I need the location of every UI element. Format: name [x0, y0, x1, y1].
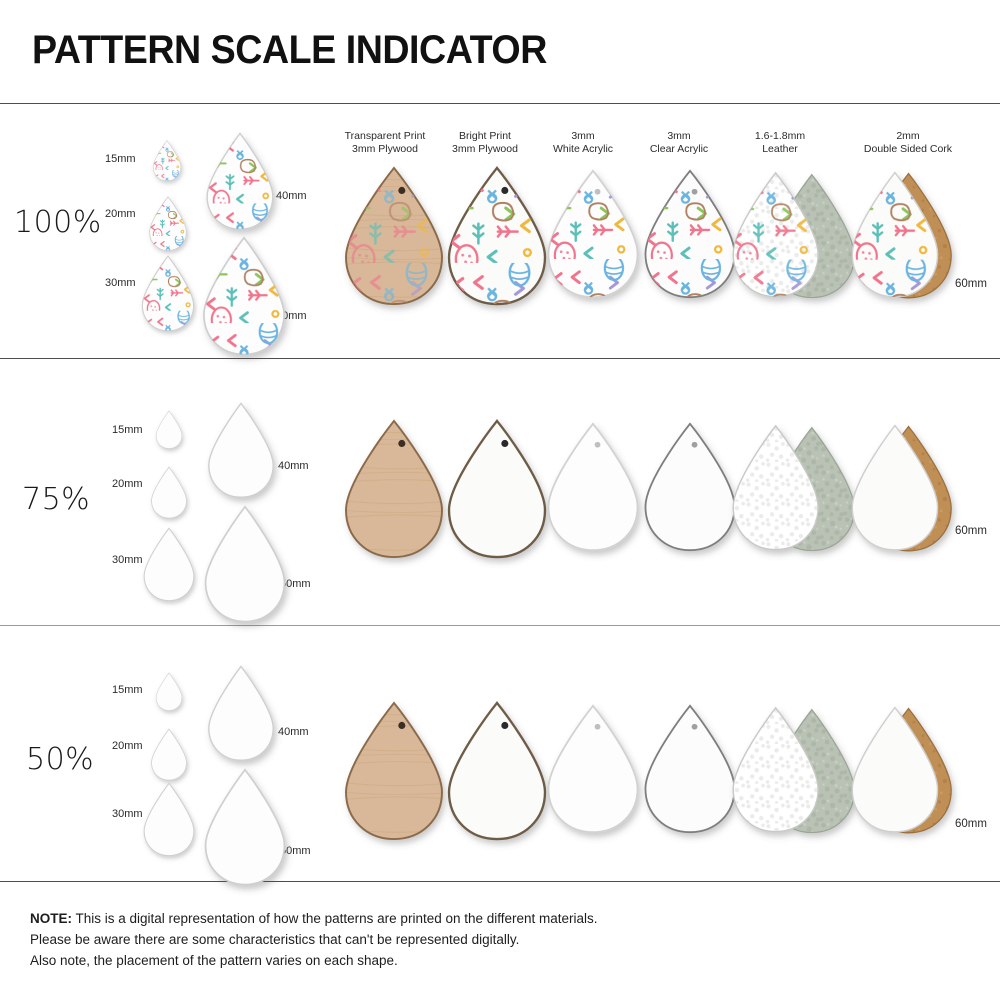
reference-drop-50mm-row-100 — [200, 236, 288, 358]
pattern-scale-indicator-page: PATTERN SCALE INDICATOR Transparent Prin… — [0, 0, 1000, 1000]
material-drop-clear-acrylic-row-75 — [640, 420, 740, 554]
column-header-leather: 1.6-1.8mm Leather — [715, 130, 845, 156]
material-drop-cork-row-75 — [845, 420, 963, 560]
reference-drop-20mm-row-50 — [150, 728, 188, 782]
material-drop-clear-acrylic-row-50 — [640, 702, 740, 836]
footer-note-label: NOTE: — [30, 911, 72, 926]
material-drop-cork-row-100 — [845, 167, 963, 307]
reference-drop-40mm-row-50 — [206, 665, 276, 763]
material-drop-transparent-print-plywood-row-75 — [340, 418, 448, 560]
footer-note: NOTE: This is a digital representation o… — [30, 908, 598, 971]
footer-note-text-1: This is a digital representation of how … — [72, 911, 598, 926]
column-header-line1: 2mm — [833, 130, 983, 143]
reference-drop-30mm-row-50 — [142, 782, 196, 858]
scale-label-75: 75% — [22, 482, 90, 517]
material-drop-white-acrylic-row-75 — [543, 420, 643, 554]
footer-note-line-3: Also note, the placement of the pattern … — [30, 950, 598, 971]
footer-note-line-1: NOTE: This is a digital representation o… — [30, 908, 598, 929]
column-header-line2: Double Sided Cork — [833, 143, 983, 156]
reference-drop-30mm-row-75 — [142, 527, 196, 603]
divider-row-1 — [0, 358, 1000, 359]
reference-drop-40mm-row-100 — [204, 132, 276, 232]
reference-drop-20mm-row-100 — [148, 196, 188, 252]
material-drop-bright-print-plywood-row-100 — [443, 165, 551, 307]
material-drop-transparent-print-plywood-row-100 — [340, 165, 448, 307]
size-label-15mm-row-50: 15mm — [112, 684, 143, 696]
size-label-20mm-row-50: 20mm — [112, 740, 143, 752]
size-label-30mm-row-100: 30mm — [105, 277, 136, 289]
size-label-40mm-row-100: 40mm — [276, 190, 307, 202]
reference-drop-50mm-row-75 — [202, 505, 288, 625]
material-drop-cork-row-50 — [845, 702, 963, 842]
column-header-double-sided-cork: 2mm Double Sided Cork — [833, 130, 983, 156]
material-drop-clear-acrylic-row-100 — [640, 167, 740, 301]
material-drop-transparent-print-plywood-row-50 — [340, 700, 448, 842]
material-drop-bright-print-plywood-row-50 — [443, 700, 551, 842]
scale-label-100: 100% — [14, 205, 102, 240]
material-drop-bright-print-plywood-row-75 — [443, 418, 551, 560]
footer-note-line-2: Please be aware there are some character… — [30, 929, 598, 950]
reference-drop-20mm-row-75 — [150, 466, 188, 520]
size-label-20mm-row-75: 20mm — [112, 478, 143, 490]
size-label-30mm-row-75: 30mm — [112, 554, 143, 566]
divider-top — [0, 103, 1000, 104]
reference-drop-15mm-row-75 — [155, 410, 183, 450]
size-label-15mm-row-100: 15mm — [105, 153, 136, 165]
reference-drop-30mm-row-100 — [140, 255, 196, 333]
divider-bottom — [0, 881, 1000, 882]
scale-label-50: 50% — [26, 742, 94, 777]
reference-drop-40mm-row-75 — [206, 402, 276, 500]
page-title: PATTERN SCALE INDICATOR — [32, 28, 547, 73]
reference-drop-15mm-row-50 — [155, 672, 183, 712]
column-header-line1: 1.6-1.8mm — [715, 130, 845, 143]
size-label-40mm-row-50: 40mm — [278, 726, 309, 738]
reference-drop-15mm-row-100 — [152, 140, 182, 182]
divider-row-2 — [0, 625, 1000, 626]
size-label-20mm-row-100: 20mm — [105, 208, 136, 220]
size-label-40mm-row-75: 40mm — [278, 460, 309, 472]
size-label-30mm-row-50: 30mm — [112, 808, 143, 820]
reference-drop-50mm-row-50 — [202, 768, 288, 888]
material-drop-white-acrylic-row-100 — [543, 167, 643, 301]
column-header-line2: Leather — [715, 143, 845, 156]
size-label-15mm-row-75: 15mm — [112, 424, 143, 436]
material-drop-white-acrylic-row-50 — [543, 702, 643, 836]
